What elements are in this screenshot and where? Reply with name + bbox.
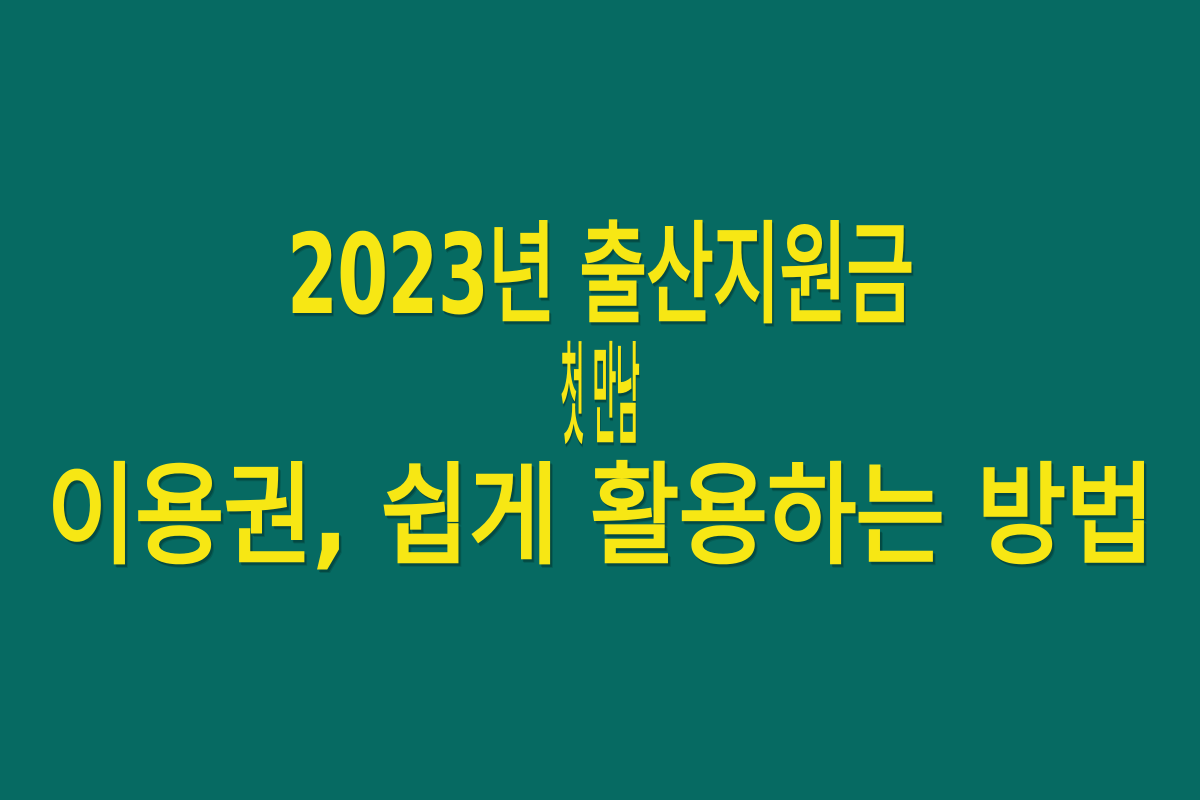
banner-canvas: 2023년 출산지원금 첫 만남 이용권, 쉽게 활용하는 방법 xyxy=(0,0,1200,800)
headline-block: 2023년 출산지원금 첫 만남 이용권, 쉽게 활용하는 방법 xyxy=(0,215,1200,577)
headline-line-2: 첫 만남 xyxy=(452,332,748,460)
headline-line-3: 이용권, 쉽게 활용하는 방법 xyxy=(38,453,1162,581)
headline-line-1: 2023년 출산지원금 xyxy=(176,211,1024,339)
